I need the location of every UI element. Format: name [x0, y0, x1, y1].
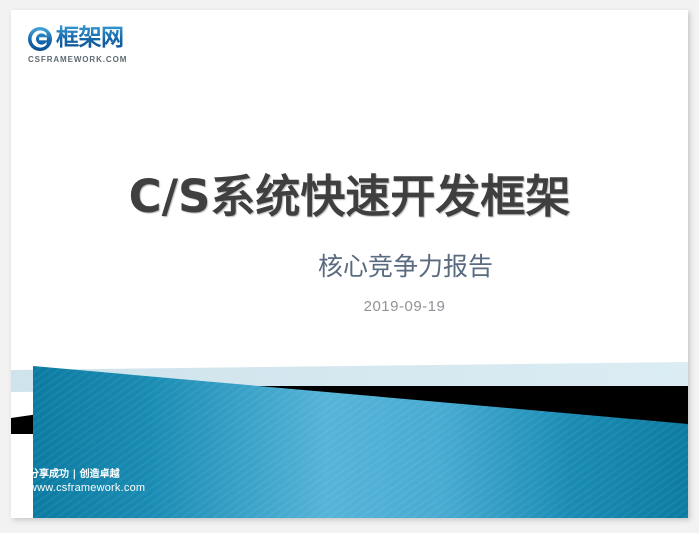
presentation-date: 2019-09-19	[11, 298, 688, 315]
logo-wordmark: 框架网	[56, 24, 124, 53]
csframework-c-mark-icon	[27, 26, 53, 52]
page-subtitle: 核心竞争力报告	[11, 247, 688, 283]
logo-wordmark-text: 框架网	[56, 24, 124, 53]
brand-logo[interactable]: 框架网 CSFRAMEWORK.COM	[27, 24, 145, 70]
slide-canvas: 框架网 CSFRAMEWORK.COM C/S系统快速开发框架 核心竞争力报告 …	[11, 10, 688, 518]
footer-tagline: 分享成功 | 创造卓越	[29, 468, 145, 481]
page-title: C/S系统快速开发框架	[11, 160, 688, 225]
footer: 分享成功 | 创造卓越 www.csframework.com	[29, 468, 145, 496]
logo-domain-text: CSFRAMEWORK.COM	[28, 55, 127, 64]
footer-website-url[interactable]: www.csframework.com	[29, 481, 145, 496]
presentation-slide: 框架网 CSFRAMEWORK.COM C/S系统快速开发框架 核心竞争力报告 …	[0, 0, 699, 533]
